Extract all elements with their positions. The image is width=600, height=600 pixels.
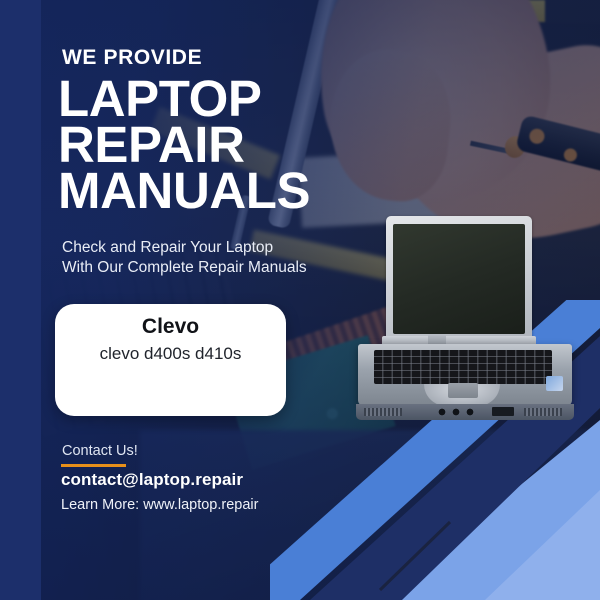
subtitle-line-1: Check and Repair Your Laptop <box>62 238 307 258</box>
headline-line-3: MANUALS <box>58 168 310 214</box>
card-brand-title: Clevo <box>55 315 286 339</box>
contact-label: Contact Us! <box>62 443 138 459</box>
poster-content: WE PROVIDE LAPTOP REPAIR MANUALS Check a… <box>0 0 600 600</box>
model-card: Clevo clevo d400s d410s <box>55 304 286 416</box>
poster: WE PROVIDE LAPTOP REPAIR MANUALS Check a… <box>0 0 600 600</box>
contact-underline-rule <box>61 464 126 467</box>
card-model-list: clevo d400s d410s <box>55 344 286 364</box>
subtitle-line-2: With Our Complete Repair Manuals <box>62 258 307 278</box>
eyebrow-text: WE PROVIDE <box>62 46 202 70</box>
learn-more-link[interactable]: Learn More: www.laptop.repair <box>61 497 258 513</box>
subtitle: Check and Repair Your Laptop With Our Co… <box>62 238 307 278</box>
contact-email[interactable]: contact@laptop.repair <box>61 470 243 490</box>
headline: LAPTOP REPAIR MANUALS <box>58 76 310 214</box>
